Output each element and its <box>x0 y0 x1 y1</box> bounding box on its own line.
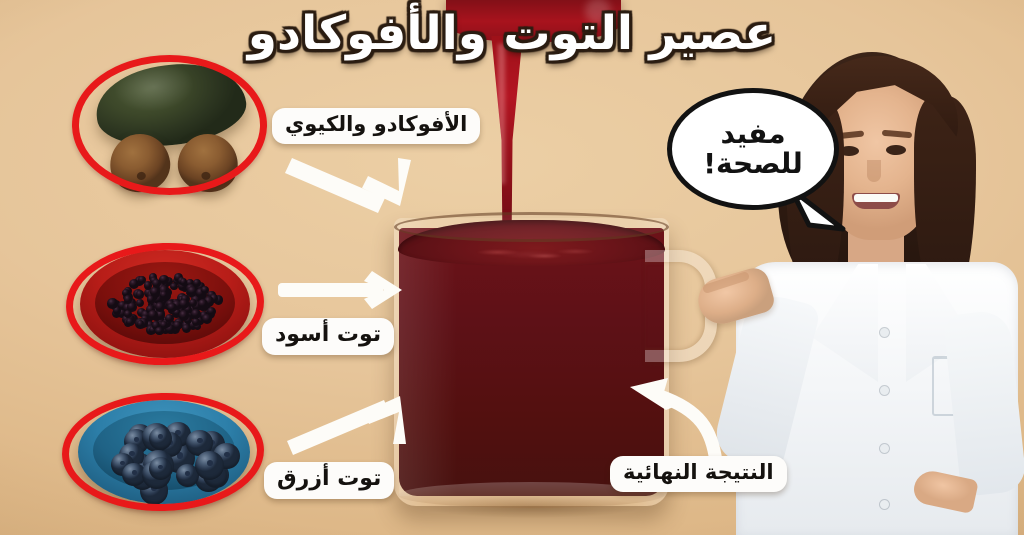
speech-bubble-line-2: للصحة! <box>703 149 802 179</box>
label-blueberry: توت أزرق <box>264 462 394 499</box>
teeth <box>854 194 898 202</box>
mug-rim <box>394 212 669 242</box>
nose <box>867 160 881 182</box>
highlight-circle-avocado-kiwi <box>72 55 267 195</box>
label-final-result: النتيجة النهائية <box>610 456 787 492</box>
label-avocado-kiwi: الأفوكادو والكيوي <box>272 108 480 144</box>
thumbnail-canvas: مفيد للصحة! الأفوكادو والكيوي توت أسود ت… <box>0 0 1024 535</box>
coat-button <box>880 444 889 453</box>
coat-button <box>880 500 889 509</box>
smiling-mouth <box>852 193 900 209</box>
juice-mug-group <box>380 0 700 535</box>
eye-right <box>886 145 906 155</box>
page-title: عصير التوت والأفوكادو <box>0 6 1024 61</box>
presenter-woman <box>700 0 1024 535</box>
speech-bubble: مفيد للصحة! <box>667 88 839 210</box>
coat-button <box>880 386 889 395</box>
label-blackberry: توت أسود <box>262 318 394 355</box>
speech-bubble-line-1: مفيد <box>720 119 785 149</box>
coat-button <box>880 328 889 337</box>
juice-pour-stream <box>484 36 530 236</box>
juice-foam <box>467 247 606 263</box>
